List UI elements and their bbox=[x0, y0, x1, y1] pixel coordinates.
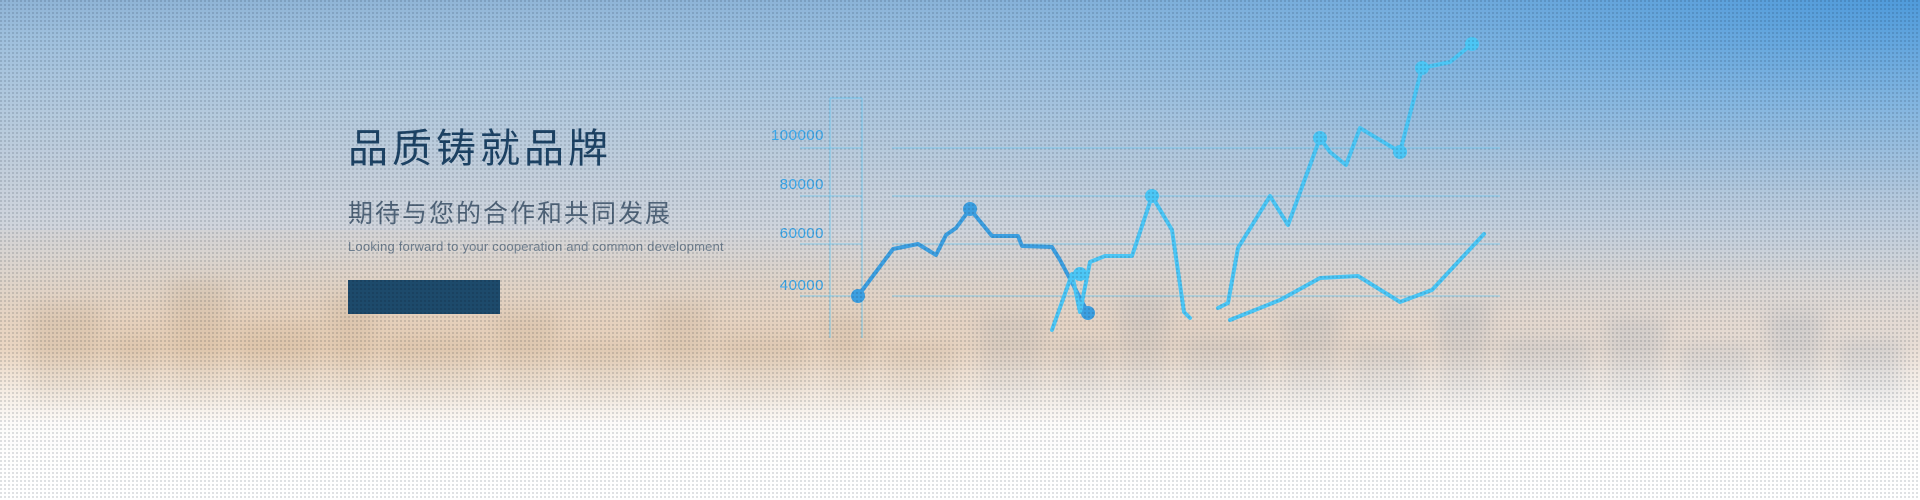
y-tick-label: 40000 bbox=[780, 277, 824, 294]
series-line-3 bbox=[1218, 37, 1479, 308]
hero-copy-block: 品质铸就品牌 期待与您的合作和共同发展 Looking forward to y… bbox=[348, 126, 768, 314]
chart-gridlines bbox=[800, 148, 1500, 296]
page-title: 品质铸就品牌 bbox=[348, 126, 768, 172]
cta-button[interactable] bbox=[348, 280, 500, 314]
series-line-2 bbox=[1052, 189, 1190, 330]
y-tick-label: 60000 bbox=[780, 225, 824, 242]
series-line-1 bbox=[851, 202, 1095, 320]
y-tick-label: 80000 bbox=[780, 176, 824, 193]
hero-banner: 100000 80000 60000 40000 bbox=[0, 0, 1920, 500]
y-tick-label: 100000 bbox=[771, 127, 824, 144]
subtitle-en: Looking forward to your cooperation and … bbox=[348, 239, 768, 254]
subtitle-cn: 期待与您的合作和共同发展 bbox=[348, 194, 768, 230]
statistics-line-chart: 100000 80000 60000 40000 bbox=[760, 0, 1920, 500]
series-line-4 bbox=[1230, 234, 1484, 320]
